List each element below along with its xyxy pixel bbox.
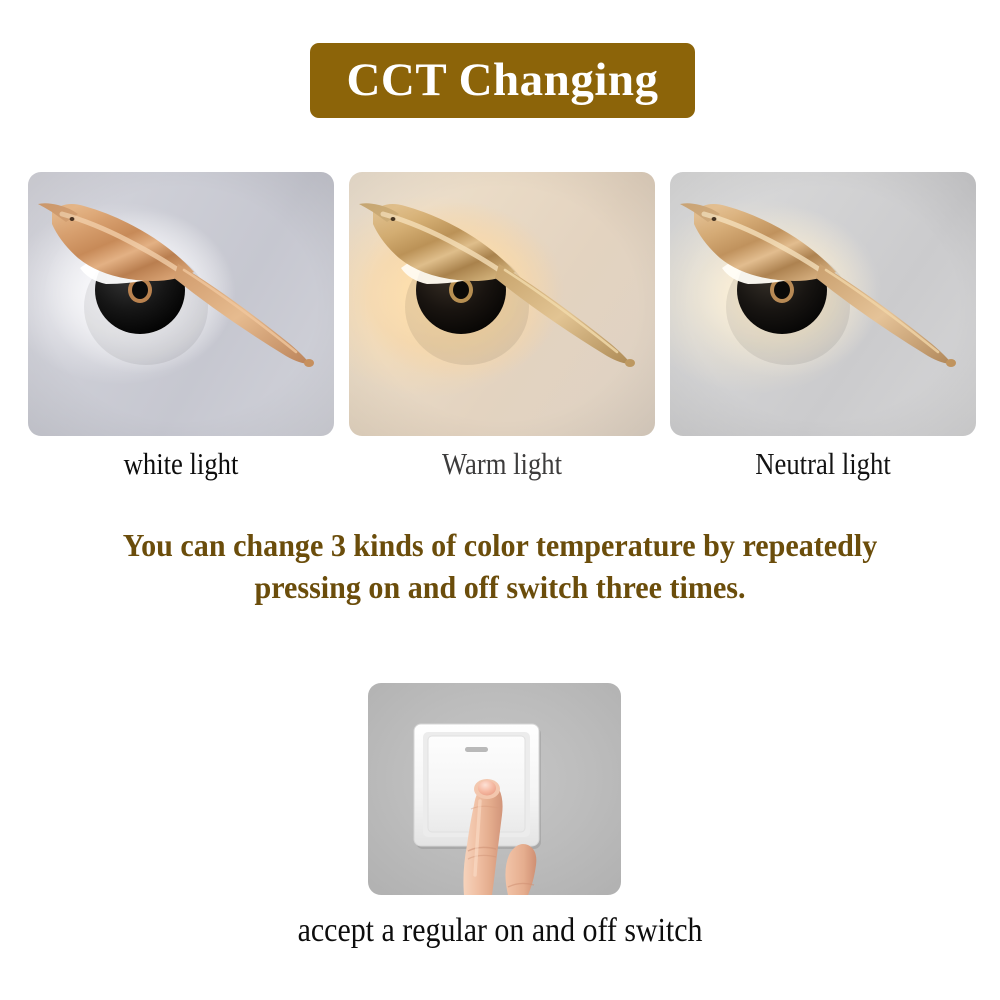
card-vignette xyxy=(670,172,976,436)
product-gallery xyxy=(28,172,976,436)
card-vignette xyxy=(349,172,655,436)
page-title: CCT Changing xyxy=(346,57,658,104)
product-card-neutral-light[interactable] xyxy=(670,172,976,436)
gallery-captions: white light Warm light Neutral light xyxy=(28,446,976,488)
switch-caption-text: accept a regular on and off switch xyxy=(298,912,703,950)
title-banner: CCT Changing xyxy=(310,43,695,118)
caption-warm-light: Warm light xyxy=(370,446,633,482)
instruction-line-1: You can change 3 kinds of color temperat… xyxy=(30,524,970,566)
caption-neutral-light: Neutral light xyxy=(691,446,954,482)
wall-switch-image xyxy=(368,683,621,895)
instruction-text: You can change 3 kinds of color temperat… xyxy=(0,524,1000,608)
switch-caption: accept a regular on and off switch xyxy=(0,912,1000,950)
card-vignette xyxy=(28,172,334,436)
product-card-warm-light[interactable] xyxy=(349,172,655,436)
product-card-white-light[interactable] xyxy=(28,172,334,436)
instruction-line-2: pressing on and off switch three times. xyxy=(30,566,970,608)
caption-white-light: white light xyxy=(49,446,312,482)
